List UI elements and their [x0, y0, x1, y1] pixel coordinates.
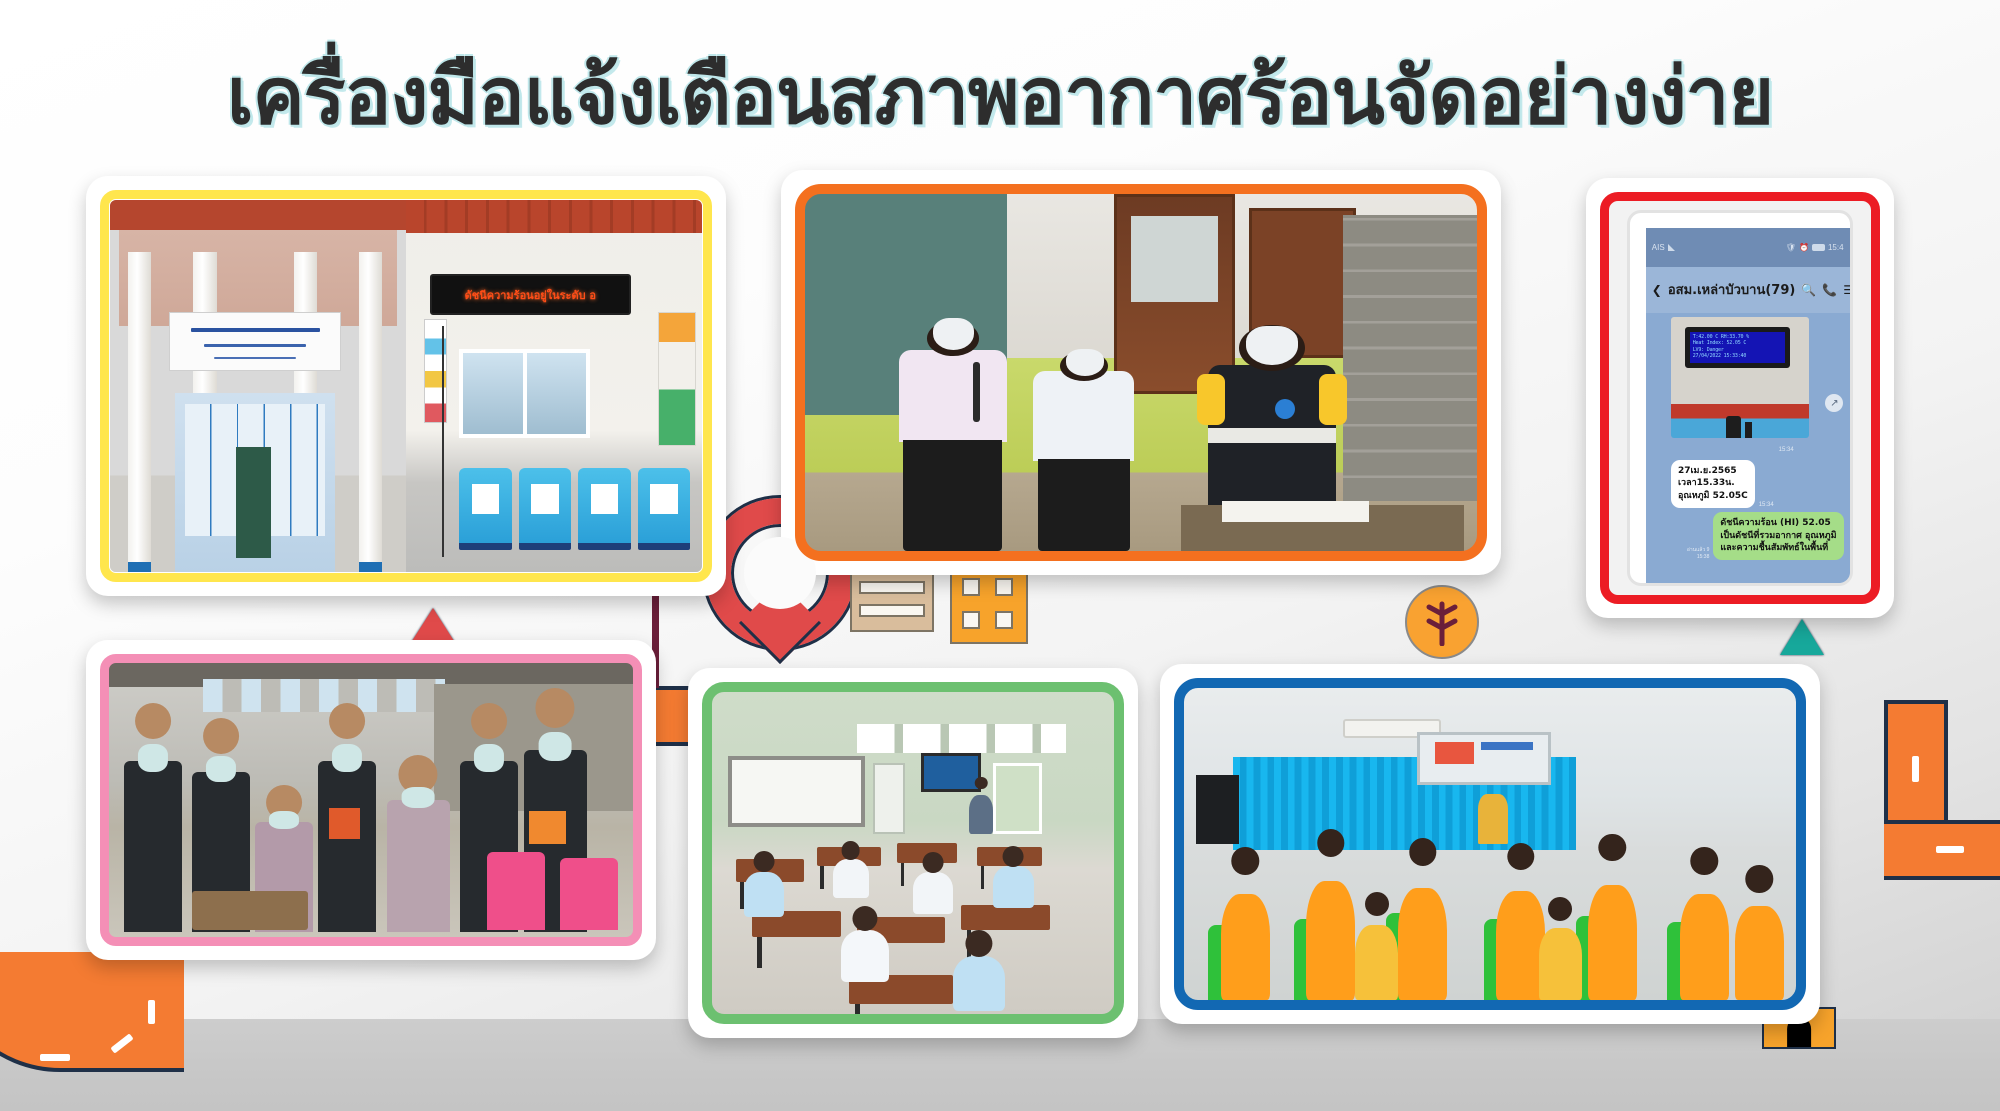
student: [913, 872, 953, 914]
photo-card-line-chat[interactable]: AIS 🛡 ⏰ 15:4 ❮ อสม.เหล่าบัวบาน(79): [1586, 178, 1894, 618]
building-window: [962, 578, 980, 596]
face-mask: [402, 787, 435, 808]
face-mask: [206, 756, 236, 782]
building-window-row: [859, 604, 925, 617]
lcd-line-4: 27/04/2022 15:33:40: [1693, 353, 1782, 360]
triangle-marker-teal: [1780, 619, 1824, 655]
window-opening: [993, 763, 1041, 834]
photo-card-health-center[interactable]: ดัชนีความร้อนอยู่ในระดับ อ: [86, 176, 726, 596]
battery-icon: [1812, 244, 1825, 251]
photo-health-center: ดัชนีความร้อนอยู่ในระดับ อ: [110, 200, 702, 572]
attendee: [1588, 885, 1637, 1000]
road-dash: [148, 1000, 155, 1024]
chair: [638, 468, 691, 550]
facility-name-sign: [169, 312, 341, 372]
chat-row-outgoing: อ่านแล้ว 9 15:38 ดัชนีความร้อน (HI) 52.0…: [1652, 512, 1844, 560]
open-door-gap: [236, 447, 271, 558]
reflective-stripe: [1208, 428, 1336, 443]
sensor-probe: [1726, 416, 1741, 438]
chair: [459, 468, 512, 550]
map-pin-hole: [744, 537, 816, 609]
attendee: [1496, 891, 1545, 1000]
yellow-sleeve: [1319, 374, 1347, 425]
person-volunteer: [124, 761, 182, 932]
pillar: [128, 252, 152, 572]
sign-line: [191, 328, 320, 332]
student: [953, 956, 1005, 1011]
building-icon-orange: [950, 566, 1028, 644]
person-student-middle: [1033, 301, 1134, 551]
person-student-left: [899, 280, 1007, 551]
chat-header: ❮ อสม.เหล่าบัวบาน(79) 🔍 📞 ☰: [1646, 267, 1850, 313]
sign-line: [214, 357, 295, 359]
bubble-line: และความชื้นสัมพัทธ์ในพื้นที่: [1720, 542, 1836, 555]
student: [841, 930, 889, 982]
phone-status-bar: AIS 🛡 ⏰ 15:4: [1646, 228, 1850, 267]
photo-village-meeting: [1184, 688, 1796, 1000]
uniform-shirt: [1033, 371, 1134, 461]
attendee: [1539, 928, 1582, 1000]
wooden-table: [192, 891, 308, 930]
person-volunteer: [318, 761, 376, 932]
face-mask: [138, 744, 168, 771]
wall-poster: [658, 312, 696, 446]
head: [471, 703, 507, 739]
read-receipt: อ่านแล้ว 9 15:38: [1687, 547, 1710, 560]
face-mask: [332, 744, 362, 771]
chat-image-message[interactable]: T:42.00 C RH:33.70 % Heat Index: 52.05 C…: [1671, 317, 1809, 437]
status-clock: 15:4: [1828, 243, 1844, 252]
signal-icon: [1668, 244, 1675, 251]
building-exterior-left: [110, 200, 406, 572]
student: [993, 866, 1033, 908]
photo-community-outreach: [108, 662, 634, 938]
student-teacher: [969, 795, 993, 834]
leaflet-rack: [424, 319, 448, 423]
road-dash: [1936, 846, 1964, 853]
uniform-skirt: [1038, 459, 1131, 551]
roof-tiles: [406, 200, 702, 233]
photo-card-students-briefing[interactable]: [781, 170, 1501, 575]
bubble-line: อุณหภูมิ 52.05C: [1678, 490, 1748, 503]
building-window: [995, 578, 1013, 596]
head: [135, 703, 171, 739]
bubble-line: เป็นดัชนีที่รวมอากาศ อุณหภูมิ: [1720, 530, 1836, 543]
face-mask: [269, 811, 299, 829]
bubble-line: ดัชนีความร้อน (HI) 52.05: [1720, 517, 1836, 530]
building-exterior-right: ดัชนีความร้อนอยู่ในระดับ อ: [406, 200, 702, 572]
slide-graphic: [1435, 742, 1474, 764]
chair: [519, 468, 572, 550]
yellow-sleeve: [1197, 374, 1225, 425]
student-desk: [961, 905, 1049, 931]
hamburger-menu-icon[interactable]: ☰: [1843, 283, 1849, 297]
phone-device: AIS 🛡 ⏰ 15:4 ❮ อสม.เหล่าบัวบาน(79): [1627, 210, 1852, 586]
lcd-line-2: Heat Index: 52.05 C: [1693, 340, 1782, 347]
attendee: [1735, 906, 1784, 1000]
building-window: [962, 611, 980, 629]
head: [329, 703, 365, 739]
lcd-line-1: T:42.00 C RH:33.70 %: [1693, 334, 1782, 341]
uniform-shirt: [899, 350, 1007, 442]
photo-phone-screenshot: AIS 🛡 ⏰ 15:4 ❮ อสม.เหล่าบัวบาน(79): [1606, 198, 1874, 598]
search-icon[interactable]: 🔍: [1801, 283, 1816, 297]
hanging-laundry: [203, 679, 445, 712]
entrance-doorway: [175, 393, 335, 572]
message-time: 15:38: [1687, 554, 1710, 561]
stone-wall: [1343, 215, 1477, 501]
building-icon-beige: [850, 570, 934, 632]
info-leaflet: [529, 811, 566, 844]
carrier-label: AIS: [1652, 243, 1665, 252]
speaker-cabinet: [1196, 775, 1239, 844]
person-resident-seated: [387, 800, 450, 932]
sign-line: [204, 344, 306, 347]
read-count-label: อ่านแล้ว 9: [1687, 547, 1710, 554]
chat-bubble-incoming[interactable]: 27เม.ย.2565 เวลา15.33น. อุณหภูมิ 52.05C: [1671, 460, 1755, 508]
photo-card-village-meeting[interactable]: [1160, 664, 1820, 1024]
tree-icon: [1405, 585, 1479, 659]
presenter: [1478, 794, 1509, 844]
chair: [578, 468, 631, 550]
attendee: [1355, 925, 1398, 1000]
whiteboard: [728, 756, 865, 827]
phone-screen: AIS 🛡 ⏰ 15:4 ❮ อสม.เหล่าบัวบาน(79): [1646, 228, 1850, 583]
phone-call-icon[interactable]: 📞: [1822, 283, 1837, 297]
building-window-row: [859, 581, 925, 594]
bubble-line: เวลา15.33น.: [1678, 477, 1748, 490]
lcd-display: T:42.00 C RH:33.70 % Heat Index: 52.05 C…: [1685, 327, 1790, 368]
attendee: [1680, 894, 1729, 1000]
attendee: [1221, 894, 1270, 1000]
papers-on-table: [1222, 501, 1370, 522]
image-message-time: 15:34: [1779, 447, 1794, 453]
roof: [110, 200, 406, 230]
face-mask: [539, 732, 572, 761]
shield-icon: 🛡: [1786, 243, 1796, 252]
chat-row-incoming: 27เม.ย.2565 เวลา15.33น. อุณหภูมิ 52.05C …: [1652, 456, 1844, 508]
message-time: 15:34: [1759, 502, 1774, 508]
tripod-stand: [442, 326, 444, 557]
bubble-line: 27เม.ย.2565: [1678, 465, 1748, 478]
share-icon[interactable]: ↗: [1825, 394, 1843, 412]
photo-classroom: [712, 692, 1114, 1014]
doorway: [873, 763, 905, 834]
page-title: เครื่องมือแจ้งเตือนสภาพอากาศร้อนจัดอย่าง…: [0, 34, 2000, 158]
student: [833, 859, 869, 898]
chat-bubble-outgoing[interactable]: ดัชนีความร้อน (HI) 52.05 เป็นดัชนีที่รวม…: [1713, 512, 1843, 560]
attendee: [1398, 888, 1447, 1000]
led-sign-text: ดัชนีความร้อนอยู่ในระดับ อ: [465, 286, 596, 304]
attendee: [1306, 881, 1355, 1000]
head: [536, 688, 575, 727]
chat-message-list[interactable]: T:42.00 C RH:33.70 % Heat Index: 52.05 C…: [1646, 313, 1850, 583]
student: [744, 872, 784, 917]
sensor-probe: [1745, 422, 1752, 438]
photo-card-classroom[interactable]: [688, 668, 1138, 1038]
building-window: [995, 611, 1013, 629]
road-dash: [40, 1054, 70, 1061]
face-mask: [1246, 326, 1297, 365]
sliding-window: [459, 349, 589, 438]
wall-mounted-tv: [921, 753, 981, 792]
face-mask: [1066, 349, 1104, 376]
projection-screen: [1417, 732, 1552, 785]
led-heat-warning-sign: ดัชนีความร้อนอยู่ในระดับ อ: [430, 274, 631, 315]
lcd-line-3: LV9: Danger: [1693, 347, 1782, 354]
pillar: [359, 252, 383, 572]
road-dash: [1912, 756, 1919, 782]
slide-text-line: [1481, 742, 1532, 750]
alarm-icon: ⏰: [1799, 243, 1809, 252]
back-chevron-icon[interactable]: ❮: [1652, 283, 1662, 297]
chat-room-name: อสม.เหล่าบัวบาน(79): [1668, 279, 1796, 300]
org-logo-badge: [1275, 399, 1295, 419]
head: [203, 718, 239, 754]
road-segment-left-curve: [0, 952, 184, 1072]
uniform-skirt: [903, 440, 1002, 551]
microphone: [973, 362, 980, 423]
photo-students-briefing: [805, 194, 1477, 551]
info-leaflet: [329, 808, 361, 838]
pink-plastic-chair: [487, 852, 545, 929]
ventilation-block-wall: [857, 724, 1066, 753]
pink-plastic-chair: [560, 858, 618, 930]
photo-card-community-outreach[interactable]: [86, 640, 656, 960]
face-mask: [474, 744, 504, 771]
poster-canvas: เครื่องมือแจ้งเตือนสภาพอากาศร้อนจัดอย่าง…: [0, 0, 2000, 1111]
waiting-chairs: [459, 468, 690, 550]
